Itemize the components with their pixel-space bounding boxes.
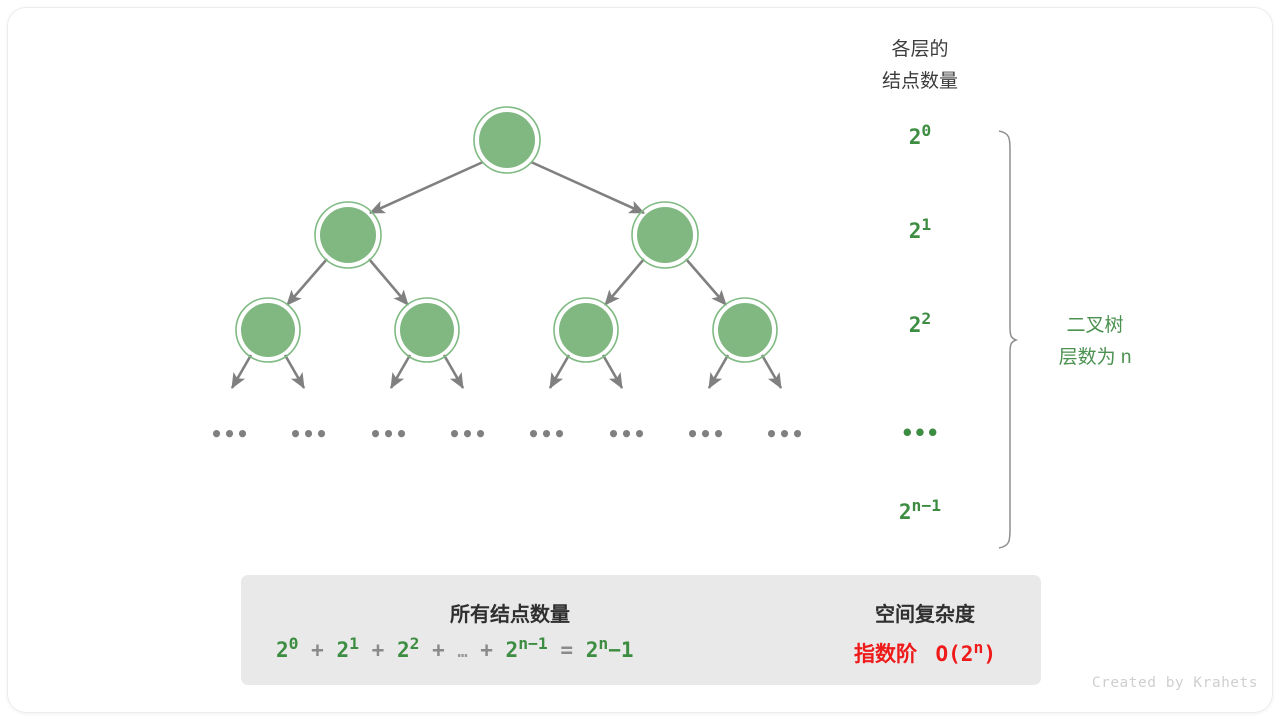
level-count-base: 2: [909, 313, 922, 337]
complexity-big-o: O(2n): [923, 642, 996, 666]
brace-note-line1: 二叉树: [1030, 311, 1160, 341]
level-count-label-last: 2n−1: [870, 499, 970, 525]
figure-canvas: 各层的 结点数量 20 21 22 ••• 2n−1 二叉树 层数为 n •••…: [0, 0, 1280, 720]
tree-node: [713, 298, 777, 362]
complexity-order-label: 指数阶: [854, 643, 917, 666]
tree-ellipsis: •••: [527, 422, 567, 447]
level-count-ellipsis: •••: [870, 420, 970, 446]
level-span-brace: [999, 131, 1016, 548]
formula-term-1: 21: [336, 638, 359, 662]
level-count-base: 2: [909, 125, 922, 149]
level-count-exponent: 0: [921, 121, 931, 140]
tree-node: [632, 202, 698, 268]
summary-formula: 20 + 21 + 22 + … + 2n−1 = 2n−1: [276, 638, 634, 662]
column-header-line2: 结点数量: [840, 70, 1000, 94]
tree-node-root: [474, 107, 540, 173]
tree-ellipsis: •••: [448, 422, 488, 447]
tree-edges-level-1: [287, 259, 726, 305]
formula-term-2: 22: [397, 638, 420, 662]
summary-left-title: 所有结点数量: [420, 598, 600, 627]
tree-ellipsis: •••: [765, 422, 805, 447]
level-count-exponent: 1: [921, 215, 931, 234]
level-count-label-2: 22: [870, 312, 970, 338]
tree-edges-level-0: [370, 162, 644, 213]
tree-ellipsis: •••: [210, 422, 250, 447]
credit-text: Created by Krahets: [1092, 675, 1258, 691]
formula-plus: +: [432, 638, 445, 662]
tree-node: [554, 298, 618, 362]
level-count-label-1: 21: [870, 218, 970, 244]
formula-result: 2n−1: [586, 638, 634, 662]
tree-ellipsis: •••: [686, 422, 726, 447]
formula-ellipsis: …: [457, 641, 467, 661]
summary-right-title: 空间复杂度: [845, 598, 1005, 627]
level-count-label-0: 20: [870, 124, 970, 150]
level-count-base: 2: [899, 500, 912, 524]
level-count-exponent: 2: [921, 309, 931, 328]
tree-ellipsis: •••: [369, 422, 409, 447]
summary-box: [241, 575, 1041, 685]
formula-plus: +: [372, 638, 385, 662]
formula-term-0: 20: [276, 638, 299, 662]
formula-term-last: 2n−1: [506, 638, 548, 662]
level-count-base: 2: [909, 219, 922, 243]
formula-plus: +: [480, 638, 493, 662]
tree-node: [236, 298, 300, 362]
tree-node: [395, 298, 459, 362]
brace-note-line2: 层数为 n: [1030, 343, 1160, 373]
formula-equals: =: [560, 638, 573, 662]
column-header-line1: 各层的: [840, 38, 1000, 62]
complexity-value: 指数阶 O(2n): [825, 638, 1025, 668]
formula-plus: +: [311, 638, 324, 662]
tree-ellipsis: •••: [607, 422, 647, 447]
tree-ellipsis: •••: [289, 422, 329, 447]
tree-node: [315, 202, 381, 268]
level-count-exponent: n−1: [912, 496, 942, 515]
tree-edges-level-2: [232, 355, 781, 388]
